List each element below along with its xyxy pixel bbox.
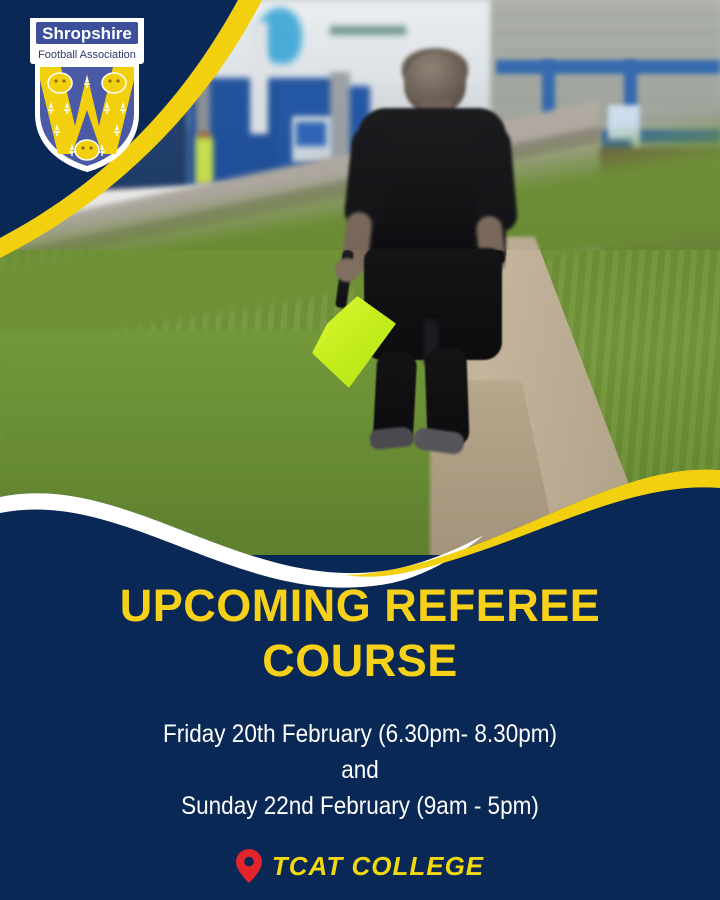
course-date-line-1: Friday 20th February (6.30pm- 8.30pm) bbox=[36, 716, 684, 752]
poster-canvas: Shropshire Football Association bbox=[0, 0, 720, 900]
logo-leopard-face bbox=[75, 140, 99, 160]
headline: UPCOMING REFEREE COURSE bbox=[0, 578, 720, 688]
shropshire-fa-logo[interactable]: Shropshire Football Association bbox=[24, 14, 150, 174]
course-date-conjunction: and bbox=[36, 752, 684, 788]
location-pin-icon bbox=[236, 849, 262, 883]
logo-leopard-face bbox=[48, 73, 72, 93]
logo-title-text: Shropshire bbox=[42, 24, 132, 43]
course-date-line-2: Sunday 22nd February (9am - 5pm) bbox=[36, 788, 684, 824]
headline-line-2: COURSE bbox=[0, 633, 720, 688]
course-dates: Friday 20th February (6.30pm- 8.30pm) an… bbox=[36, 716, 684, 824]
pin-hole bbox=[244, 857, 254, 867]
venue-name: TCAT COLLEGE bbox=[272, 851, 484, 882]
venue-row: TCAT COLLEGE bbox=[0, 849, 720, 883]
logo-subtitle-text: Football Association bbox=[38, 49, 136, 61]
logo-leopard-face bbox=[102, 73, 126, 93]
headline-line-1: UPCOMING REFEREE bbox=[0, 578, 720, 633]
